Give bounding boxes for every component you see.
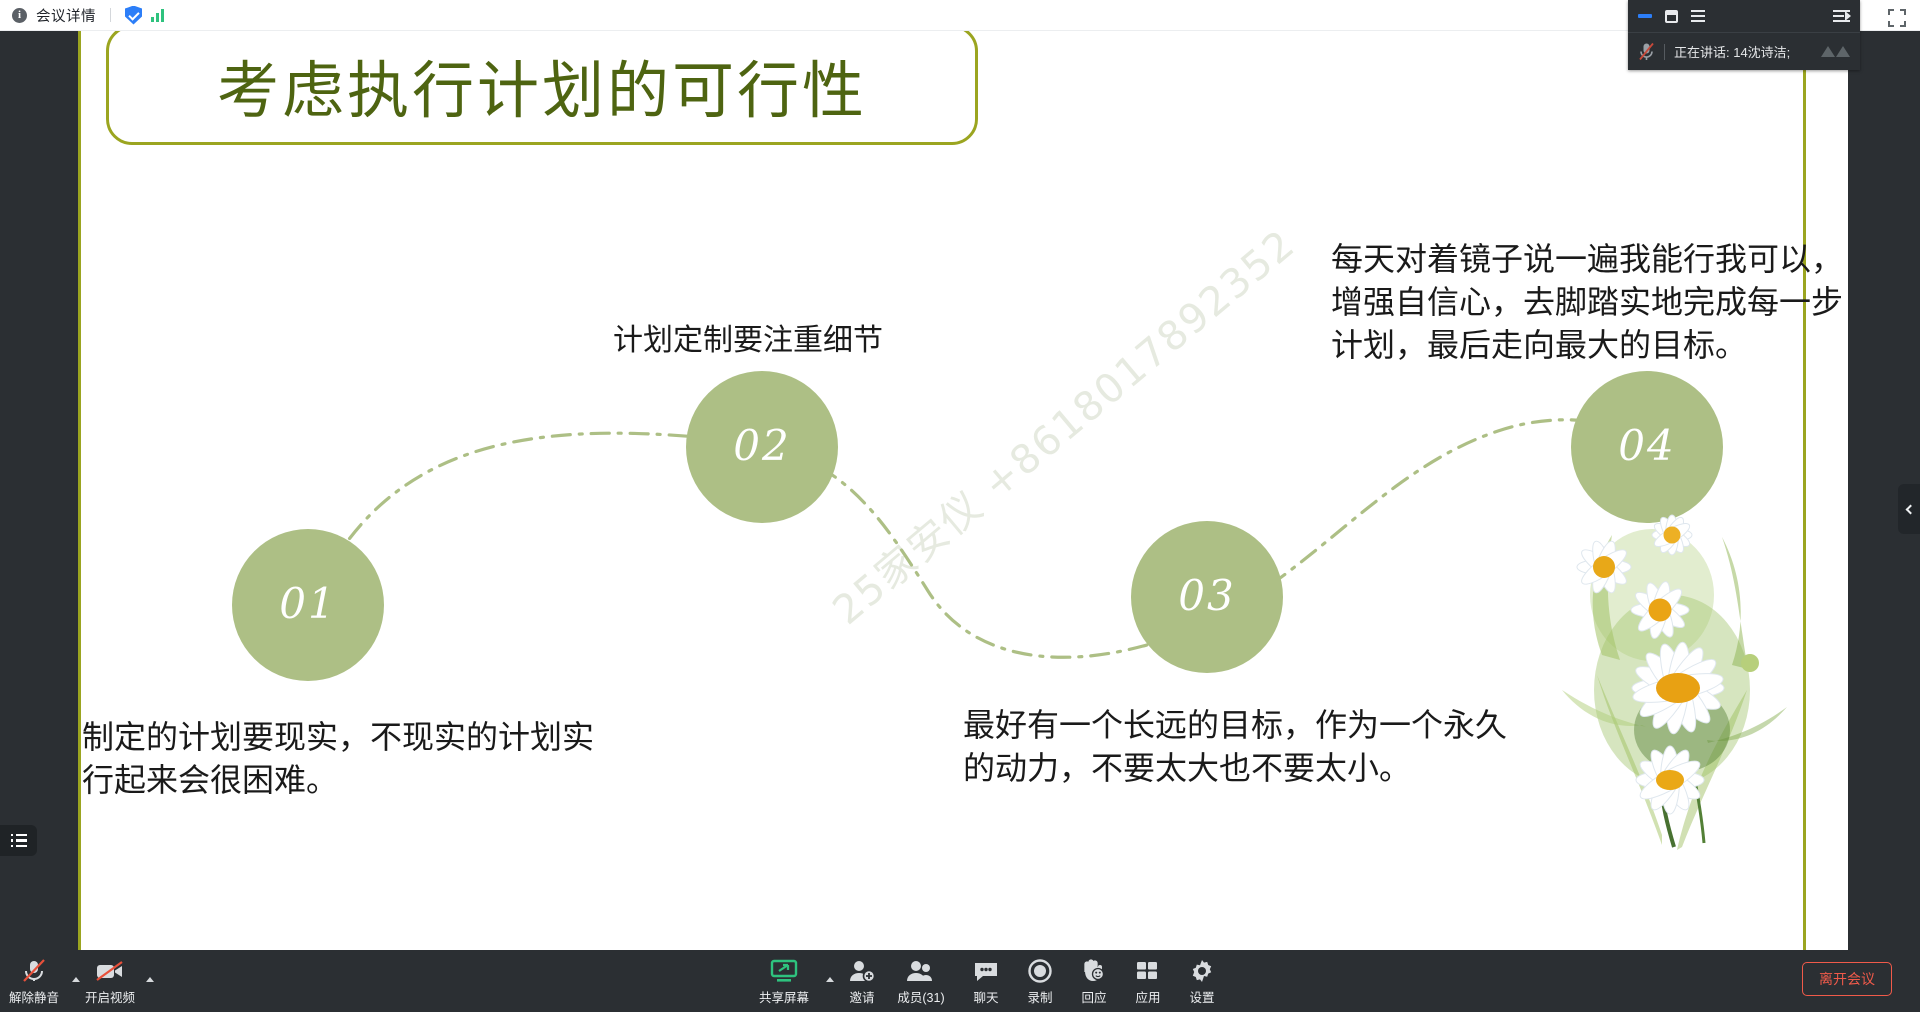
node-caption-03: 最好有一个长远的目标，作为一个永久的动力，不要太大也不要太小。 bbox=[963, 704, 1523, 790]
leave-meeting-button[interactable]: 离开会议 bbox=[1802, 962, 1892, 996]
node-number: 04 bbox=[1618, 421, 1675, 470]
list-agenda-icon[interactable] bbox=[0, 825, 37, 856]
node-caption-02: 计划定制要注重细节 bbox=[613, 321, 1033, 362]
meeting-window: i 会议详情 考虑执行计划的可行性 25家安仪 +8618017892352 0… bbox=[0, 0, 1920, 1012]
toolbar-item-apps[interactable]: 应用 bbox=[1122, 959, 1174, 1006]
record-circle-icon bbox=[1028, 959, 1052, 983]
active-speaker-bar: 正在讲话: 14沈诗洁; bbox=[1628, 33, 1860, 70]
panel-window-controls bbox=[1628, 0, 1860, 33]
toolbar-item-share-screen[interactable]: 共享屏幕 bbox=[758, 959, 810, 1006]
chevron-left-icon bbox=[1906, 504, 1916, 514]
chevron-up-icon[interactable] bbox=[146, 977, 154, 982]
toolbar-item-chat[interactable]: 聊天 bbox=[960, 959, 1012, 1006]
side-panel-toggle-icon[interactable] bbox=[1833, 10, 1850, 23]
toolbar-label: 成员(31) bbox=[897, 987, 944, 1006]
share-screen-icon bbox=[770, 959, 798, 983]
invite-person-icon bbox=[849, 959, 875, 983]
toolbar-item-video[interactable]: 开启视频 bbox=[84, 959, 136, 1006]
toolbar-item-mute[interactable]: 解除静音 bbox=[8, 959, 60, 1006]
toolbar-item-settings[interactable]: 设置 bbox=[1176, 959, 1228, 1006]
toolbar-label: 解除静音 bbox=[9, 987, 59, 1006]
toolbar-label: 开启视频 bbox=[85, 987, 135, 1006]
toolbar-label: 共享屏幕 bbox=[759, 987, 809, 1006]
signal-bars-icon[interactable] bbox=[151, 8, 164, 22]
shield-check-icon[interactable] bbox=[125, 6, 142, 25]
timeline-node-01: 01 bbox=[232, 529, 384, 681]
apps-grid-icon bbox=[1136, 959, 1160, 983]
chevron-up-icon[interactable] bbox=[72, 977, 80, 982]
toolbar-label: 设置 bbox=[1189, 987, 1214, 1006]
fullscreen-icon[interactable] bbox=[1888, 9, 1906, 27]
toolbar-label: 回应 bbox=[1081, 987, 1106, 1006]
microphone-muted-icon bbox=[21, 959, 47, 983]
toolbar-label: 邀请 bbox=[849, 987, 874, 1006]
node-caption-04: 每天对着镜子说一遍我能行我可以，增强自信心，去脚踏实地完成每一步计划，最后走向最… bbox=[1331, 238, 1848, 368]
left-rail bbox=[0, 31, 78, 950]
bottom-toolbar: 解除静音 开启视频 共 bbox=[0, 950, 1920, 1012]
divider bbox=[1664, 44, 1665, 60]
toolbar-item-participants[interactable]: 成员(31) bbox=[895, 959, 947, 1006]
maximize-icon[interactable] bbox=[1665, 10, 1678, 23]
chat-bubble-icon bbox=[973, 959, 999, 983]
minimize-icon[interactable] bbox=[1638, 14, 1652, 18]
floating-meeting-panel: 正在讲话: 14沈诗洁; bbox=[1628, 0, 1860, 70]
info-circle-icon[interactable]: i bbox=[12, 8, 27, 23]
node-number: 02 bbox=[733, 421, 790, 470]
reaction-hand-icon bbox=[1081, 959, 1107, 983]
chevron-up-icon[interactable] bbox=[826, 977, 834, 982]
participants-icon bbox=[907, 959, 935, 983]
toolbar-label: 应用 bbox=[1135, 987, 1160, 1006]
node-number: 01 bbox=[279, 579, 336, 628]
panel-collapse-handle[interactable] bbox=[1898, 484, 1920, 534]
shared-slide: 考虑执行计划的可行性 25家安仪 +8618017892352 01 02 03… bbox=[78, 31, 1848, 950]
gear-icon bbox=[1190, 959, 1214, 983]
timeline-node-02: 02 bbox=[686, 371, 838, 523]
speaking-status-text: 正在讲话: 14沈诗洁; bbox=[1674, 42, 1790, 61]
timeline-node-03: 03 bbox=[1131, 521, 1283, 673]
hamburger-menu-icon[interactable] bbox=[1691, 10, 1705, 23]
audio-waveform-icon bbox=[1821, 46, 1850, 57]
node-number: 03 bbox=[1178, 571, 1235, 620]
toolbar-item-record[interactable]: 录制 bbox=[1014, 959, 1066, 1006]
watercolor-daisies-illustration bbox=[1542, 475, 1802, 855]
toolbar-item-reaction[interactable]: 回应 bbox=[1068, 959, 1120, 1006]
microphone-muted-icon[interactable] bbox=[1638, 42, 1655, 61]
toolbar-label: 聊天 bbox=[973, 987, 998, 1006]
toolbar-label: 录制 bbox=[1027, 987, 1052, 1006]
video-camera-off-icon bbox=[95, 959, 125, 983]
meeting-details-label[interactable]: 会议详情 bbox=[36, 5, 96, 26]
node-caption-01: 制定的计划要现实，不现实的计划实行起来会很困难。 bbox=[82, 716, 622, 802]
toolbar-item-invite[interactable]: 邀请 bbox=[836, 959, 888, 1006]
divider bbox=[110, 8, 111, 22]
